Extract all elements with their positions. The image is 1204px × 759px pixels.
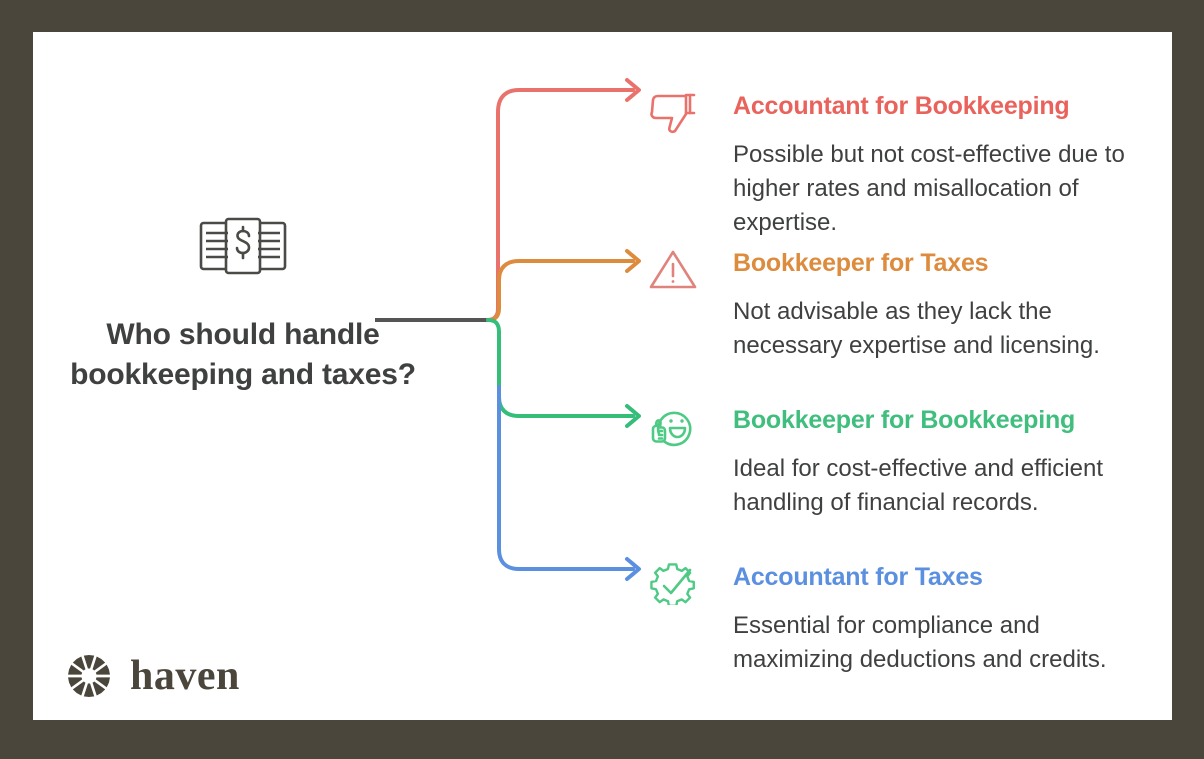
- thumbs-down-icon: [645, 90, 701, 134]
- branch-item-title: Accountant for Taxes: [733, 563, 983, 592]
- haven-aperture-icon: [66, 653, 112, 699]
- question-block: Who should handle bookkeeping and taxes?: [68, 215, 418, 395]
- money-stack-icon: [195, 215, 291, 281]
- infographic-canvas: Who should handle bookkeeping and taxes?: [0, 0, 1204, 759]
- branch-item-bookkeeper-taxes: Bookkeeper for Taxes Not advisable as th…: [645, 247, 1115, 291]
- branch-item-title: Bookkeeper for Taxes: [733, 249, 988, 278]
- branch-arrow-2: [627, 251, 639, 271]
- branch-item-description: Possible but not cost-effective due to h…: [733, 138, 1133, 240]
- branch-line-2: [488, 261, 633, 320]
- question-text: Who should handle bookkeeping and taxes?: [68, 315, 418, 395]
- infographic-card: Who should handle bookkeeping and taxes?: [33, 32, 1172, 720]
- branch-arrow-3: [627, 406, 639, 426]
- branch-item-description: Essential for compliance and maximizing …: [733, 609, 1133, 677]
- haven-logo-text: haven: [130, 652, 240, 700]
- branch-item-accountant-taxes: Accountant for Taxes Essential for compl…: [645, 561, 1115, 605]
- haven-logo: haven: [66, 652, 240, 700]
- branch-item-header: Accountant for Taxes: [645, 561, 1115, 605]
- branch-line-1: [488, 90, 633, 320]
- branch-item-title: Bookkeeper for Bookkeeping: [733, 406, 1075, 435]
- warning-triangle-icon: [645, 247, 701, 291]
- branch-line-3: [488, 320, 633, 416]
- branch-item-title: Accountant for Bookkeeping: [733, 92, 1070, 121]
- branch-item-description: Not advisable as they lack the necessary…: [733, 295, 1133, 363]
- smiley-thumbs-up-icon: [645, 404, 701, 448]
- branch-item-header: Accountant for Bookkeeping: [645, 90, 1115, 134]
- branch-line-4: [499, 387, 633, 569]
- branch-item-bookkeeper-bookkeeping: Bookkeeper for Bookkeeping Ideal for cos…: [645, 404, 1115, 448]
- branch-item-header: Bookkeeper for Taxes: [645, 247, 1115, 291]
- branch-arrow-1: [627, 80, 639, 100]
- gear-check-icon: [645, 561, 701, 605]
- branch-arrow-4: [627, 559, 639, 579]
- branch-item-header: Bookkeeper for Bookkeeping: [645, 404, 1115, 448]
- branch-item-description: Ideal for cost-effective and efficient h…: [733, 452, 1133, 520]
- branch-item-accountant-bookkeeping: Accountant for Bookkeeping Possible but …: [645, 90, 1115, 134]
